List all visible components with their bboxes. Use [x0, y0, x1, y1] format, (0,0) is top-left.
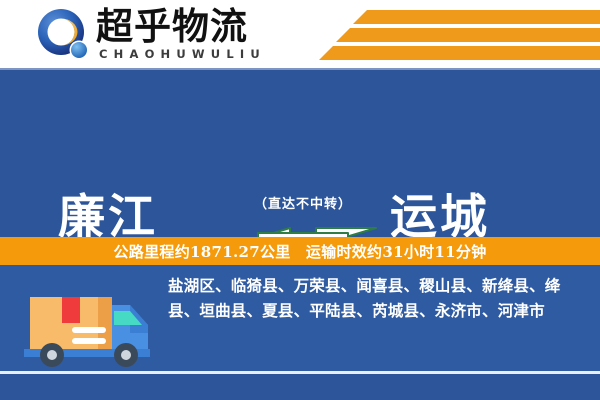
coverage-area-panel: 盐湖区、临猗县、万荣县、闻喜县、稷山县、新绛县、绛县、垣曲县、夏县、平陆县、芮城… — [0, 265, 600, 372]
brand-name-en: CHAOHUWULIU — [99, 47, 266, 61]
distance-duration-text: 公路里程约1871.27公里 运输时效约31小时11分钟 — [114, 241, 487, 262]
direct-shipping-note: （直达不中转） — [254, 193, 352, 212]
delivery-truck-icon — [14, 275, 159, 367]
route-panel: 廉江 （直达不中转） 【往返运输】 运城 — [0, 70, 600, 237]
footer-bar — [0, 374, 600, 400]
distance-duration-bar: 公路里程约1871.27公里 运输时效约31小时11分钟 — [0, 237, 600, 265]
circle-q-logo-icon — [36, 8, 92, 64]
header: 超乎物流 CHAOHUWULIU — [0, 0, 600, 70]
coverage-area-text: 盐湖区、临猗县、万荣县、闻喜县、稷山县、新绛县、绛县、垣曲县、夏县、平陆县、芮城… — [168, 273, 588, 323]
brand-name-cn: 超乎物流 — [96, 6, 248, 46]
speed-stripes-icon — [270, 0, 600, 70]
logistics-route-banner: 超乎物流 CHAOHUWULIU 廉江 （直达不中转） — [0, 0, 600, 400]
